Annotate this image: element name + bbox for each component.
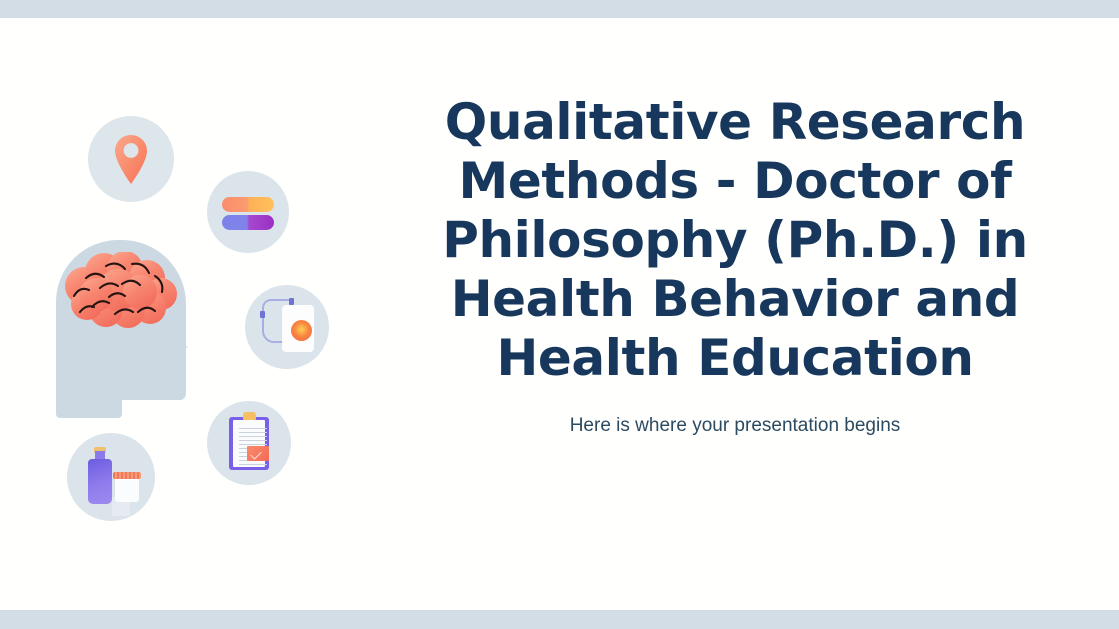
jar-lid-glyph — [113, 472, 141, 479]
brain-glyph — [62, 252, 180, 332]
iv-bag-icon — [245, 285, 329, 369]
clipboard-board-glyph — [229, 417, 269, 470]
slide-text-block: Qualitative Research Methods - Doctor of… — [440, 93, 1030, 439]
location-pin-glyph — [115, 135, 147, 184]
iv-clip-right-glyph — [289, 298, 294, 305]
head-jaw-glyph — [56, 358, 122, 418]
page-title: Qualitative Research Methods - Doctor of… — [440, 93, 1030, 388]
iv-clip-left-glyph — [260, 311, 265, 318]
jar-body-glyph — [115, 478, 139, 502]
pill-orange-glyph — [222, 197, 274, 212]
iv-blood-drop-glyph — [291, 320, 312, 341]
clipboard-clamp-glyph — [243, 412, 256, 420]
medicine-bottles-icon — [67, 433, 155, 521]
clipboard-icon — [207, 401, 291, 485]
pills-icon — [207, 171, 289, 253]
head-brain-icon — [48, 240, 208, 440]
slide-subtitle: Here is where your presentation begins — [440, 414, 1030, 439]
clipboard-paper-glyph — [233, 420, 265, 467]
letterbox-band-top — [0, 0, 1119, 18]
location-pin-icon — [88, 116, 174, 202]
presentation-slide: Qualitative Research Methods - Doctor of… — [0, 0, 1119, 629]
slide-canvas: Qualitative Research Methods - Doctor of… — [0, 18, 1119, 610]
illustration-group — [40, 88, 370, 538]
bottle-body-glyph — [88, 459, 112, 504]
letterbox-band-bottom — [0, 610, 1119, 629]
pill-purple-glyph — [222, 215, 274, 230]
